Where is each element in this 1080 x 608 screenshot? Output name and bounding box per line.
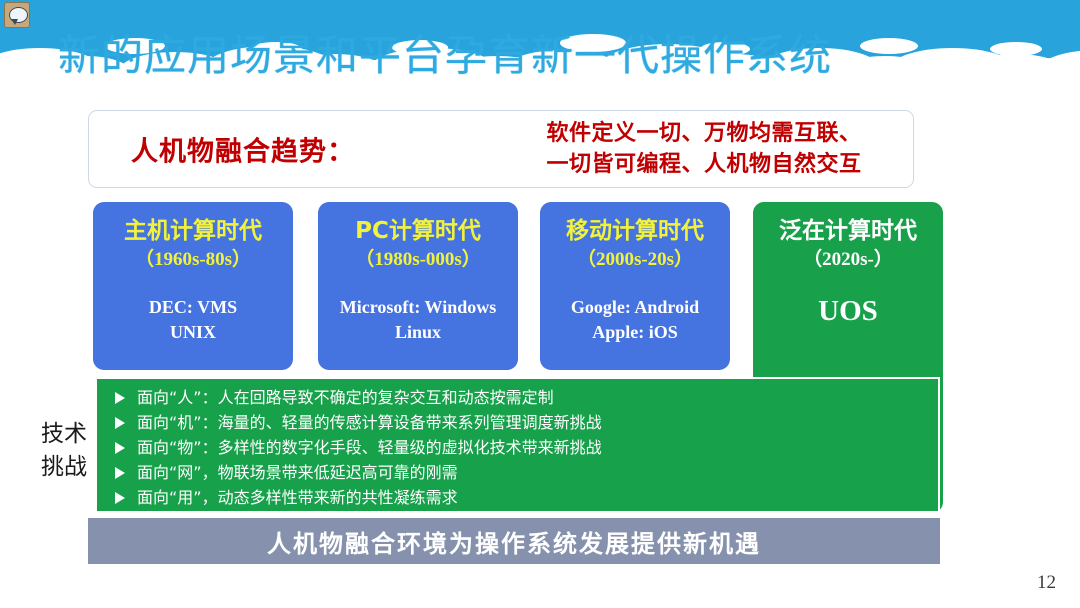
era-card-pc[interactable]: PC计算时代 （1980s-000s） Microsoft: Windows L… (318, 202, 518, 370)
trend-statements: 软件定义一切、万物均需互联、 一切皆可编程、人机物自然交互 (504, 118, 904, 180)
era-title: 主机计算时代 (93, 216, 293, 246)
triangle-bullet-icon (115, 392, 125, 404)
challenge-label: 技术 挑战 (34, 418, 94, 484)
page-number: 12 (1037, 572, 1056, 594)
era-os-line-2: UNIX (93, 320, 293, 345)
era-os-line-1: UOS (753, 299, 943, 324)
era-os-list: DEC: VMS UNIX (93, 295, 293, 345)
challenge-text: 面向“机”：海量的、轻量的传感计算设备带来系列管理调度新挑战 (137, 413, 602, 432)
era-title: PC计算时代 (318, 216, 518, 246)
trend-card: 人机物融合趋势： 软件定义一切、万物均需互联、 一切皆可编程、人机物自然交互 (88, 110, 914, 188)
trend-line-2: 一切皆可编程、人机物自然交互 (504, 149, 904, 180)
challenge-text: 面向“用”，动态多样性带来新的共性凝练需求 (137, 488, 458, 507)
triangle-bullet-icon (115, 417, 125, 429)
challenge-label-line-1: 技术 (34, 418, 94, 451)
era-title: 泛在计算时代 (753, 216, 943, 246)
trend-line-1: 软件定义一切、万物均需互联、 (504, 118, 904, 149)
era-card-mobile[interactable]: 移动计算时代 （2000s-20s） Google: Android Apple… (540, 202, 730, 370)
cloud-puff-small (990, 42, 1042, 56)
challenge-label-line-2: 挑战 (34, 451, 94, 484)
challenge-item: 面向“用”，动态多样性带来新的共性凝练需求 (107, 485, 938, 510)
era-years: （1960s-80s） (93, 246, 293, 273)
challenge-text: 面向“人”：人在回路导致不确定的复杂交互和动态按需定制 (137, 388, 554, 407)
challenge-text: 面向“网”，物联场景带来低延迟高可靠的刚需 (137, 463, 458, 482)
triangle-bullet-icon (115, 467, 125, 479)
era-years: （2000s-20s） (540, 246, 730, 273)
bubble-tail (11, 19, 18, 25)
era-os-line-2: Linux (318, 320, 518, 345)
era-os-list: Google: Android Apple: iOS (540, 295, 730, 345)
page-title: 新的应用场景和平台孕育新一代操作系统 (58, 28, 958, 84)
challenge-item: 面向“机”：海量的、轻量的传感计算设备带来系列管理调度新挑战 (107, 410, 938, 435)
era-os-line-2: Apple: iOS (540, 320, 730, 345)
era-card-mainframe[interactable]: 主机计算时代 （1960s-80s） DEC: VMS UNIX (93, 202, 293, 370)
challenge-text: 面向“物”：多样性的数字化手段、轻量级的虚拟化技术带来新挑战 (137, 438, 602, 457)
era-title: 移动计算时代 (540, 216, 730, 246)
era-os-list: Microsoft: Windows Linux (318, 295, 518, 345)
triangle-bullet-icon (115, 492, 125, 504)
era-os-line-1: Microsoft: Windows (318, 295, 518, 320)
challenge-item: 面向“物”：多样性的数字化手段、轻量级的虚拟化技术带来新挑战 (107, 435, 938, 460)
challenge-panel: 面向“人”：人在回路导致不确定的复杂交互和动态按需定制 面向“机”：海量的、轻量… (95, 377, 940, 513)
era-years: （2020s-） (753, 246, 943, 273)
chat-bubble-icon[interactable] (4, 2, 30, 28)
challenge-item: 面向“人”：人在回路导致不确定的复杂交互和动态按需定制 (107, 385, 938, 410)
era-os-line-1: Google: Android (540, 295, 730, 320)
conclusion-text: 人机物融合环境为操作系统发展提供新机遇 (267, 524, 761, 559)
era-os-line-1: DEC: VMS (93, 295, 293, 320)
trend-label: 人机物融合趋势： (131, 130, 355, 169)
conclusion-bar: 人机物融合环境为操作系统发展提供新机遇 (88, 518, 940, 564)
era-os-list: UOS (753, 299, 943, 324)
challenge-item: 面向“网”，物联场景带来低延迟高可靠的刚需 (107, 460, 938, 485)
triangle-bullet-icon (115, 442, 125, 454)
era-years: （1980s-000s） (318, 246, 518, 273)
